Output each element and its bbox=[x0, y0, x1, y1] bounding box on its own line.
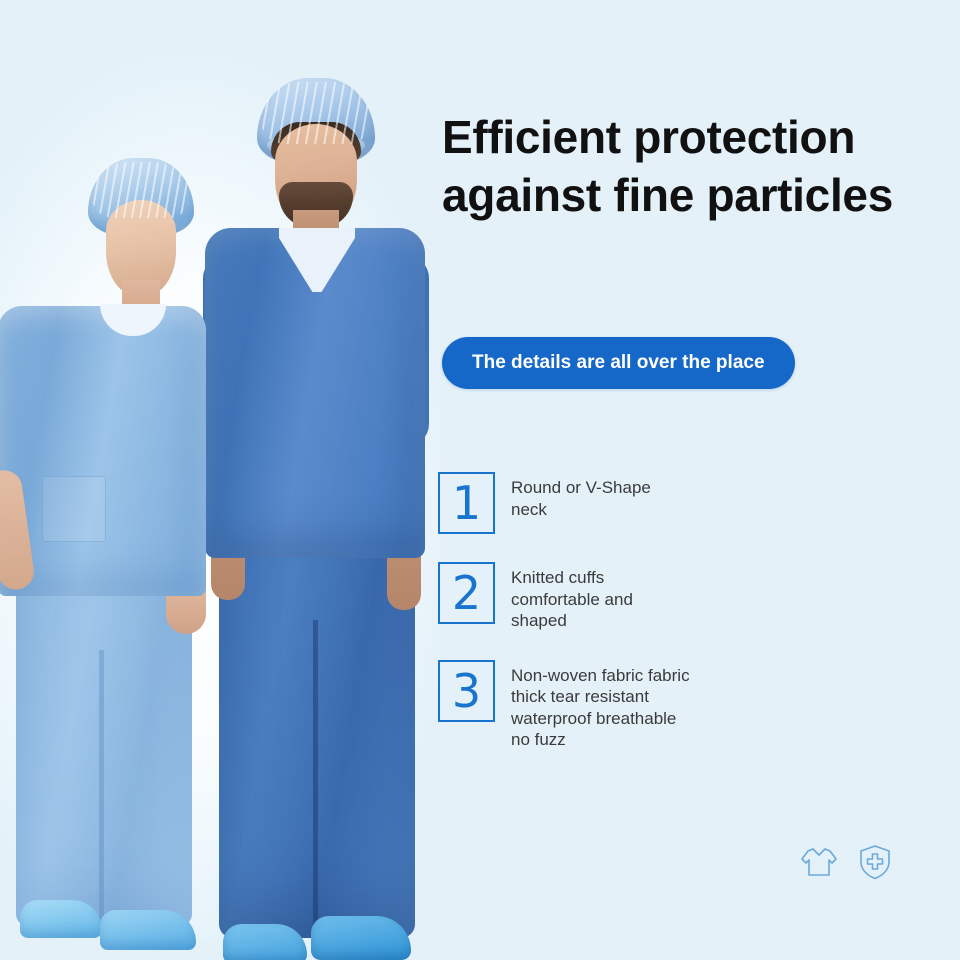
male-model bbox=[205, 78, 425, 923]
feature-line: shaped bbox=[511, 610, 633, 632]
details-badge-label: The details are all over the place bbox=[472, 352, 765, 374]
male-cap-pleats bbox=[261, 82, 371, 144]
female-model bbox=[0, 158, 220, 933]
female-shoe-cover-right bbox=[100, 910, 196, 950]
feature-list: 1 Round or V-Shape neck 2 Knitted cuffs … bbox=[438, 472, 738, 779]
feature-line: Non-woven fabric fabric bbox=[511, 665, 690, 687]
page-title: Efficient protection against fine partic… bbox=[442, 108, 912, 224]
poster-canvas: Efficient protection against fine partic… bbox=[0, 0, 960, 960]
feature-line: Knitted cuffs bbox=[511, 567, 633, 589]
feature-number: 3 bbox=[452, 668, 481, 714]
female-scrub-pants bbox=[16, 576, 192, 926]
feature-line: no fuzz bbox=[511, 729, 690, 751]
feature-number-badge: 2 bbox=[438, 562, 495, 624]
details-badge: The details are all over the place bbox=[442, 337, 795, 389]
feature-number: 1 bbox=[452, 480, 481, 526]
feature-description: Round or V-Shape neck bbox=[511, 472, 651, 520]
feature-number: 2 bbox=[452, 570, 481, 616]
feature-line: waterproof breathable bbox=[511, 708, 690, 730]
feature-description: Non-woven fabric fabric thick tear resis… bbox=[511, 660, 690, 751]
models-photo bbox=[0, 0, 440, 960]
feature-line: comfortable and bbox=[511, 589, 633, 611]
female-shoe-cover-left bbox=[20, 900, 102, 938]
feature-line: thick tear resistant bbox=[511, 686, 690, 708]
feature-line: neck bbox=[511, 499, 651, 521]
male-shoe-cover-right bbox=[311, 916, 411, 960]
male-scrub-pants bbox=[219, 530, 415, 938]
feature-line: Round or V-Shape bbox=[511, 477, 651, 499]
female-chest-pocket bbox=[42, 476, 106, 542]
feature-item: 3 Non-woven fabric fabric thick tear res… bbox=[438, 660, 738, 751]
male-shoe-cover-left bbox=[223, 924, 307, 960]
feature-number-badge: 1 bbox=[438, 472, 495, 534]
shield-medical-cross-icon bbox=[854, 841, 896, 883]
product-icon-group bbox=[798, 841, 896, 883]
feature-description: Knitted cuffs comfortable and shaped bbox=[511, 562, 633, 632]
feature-item: 1 Round or V-Shape neck bbox=[438, 472, 738, 534]
feature-number-badge: 3 bbox=[438, 660, 495, 722]
feature-item: 2 Knitted cuffs comfortable and shaped bbox=[438, 562, 738, 632]
female-cap-pleats bbox=[92, 162, 190, 218]
scrub-top-icon bbox=[798, 841, 840, 883]
